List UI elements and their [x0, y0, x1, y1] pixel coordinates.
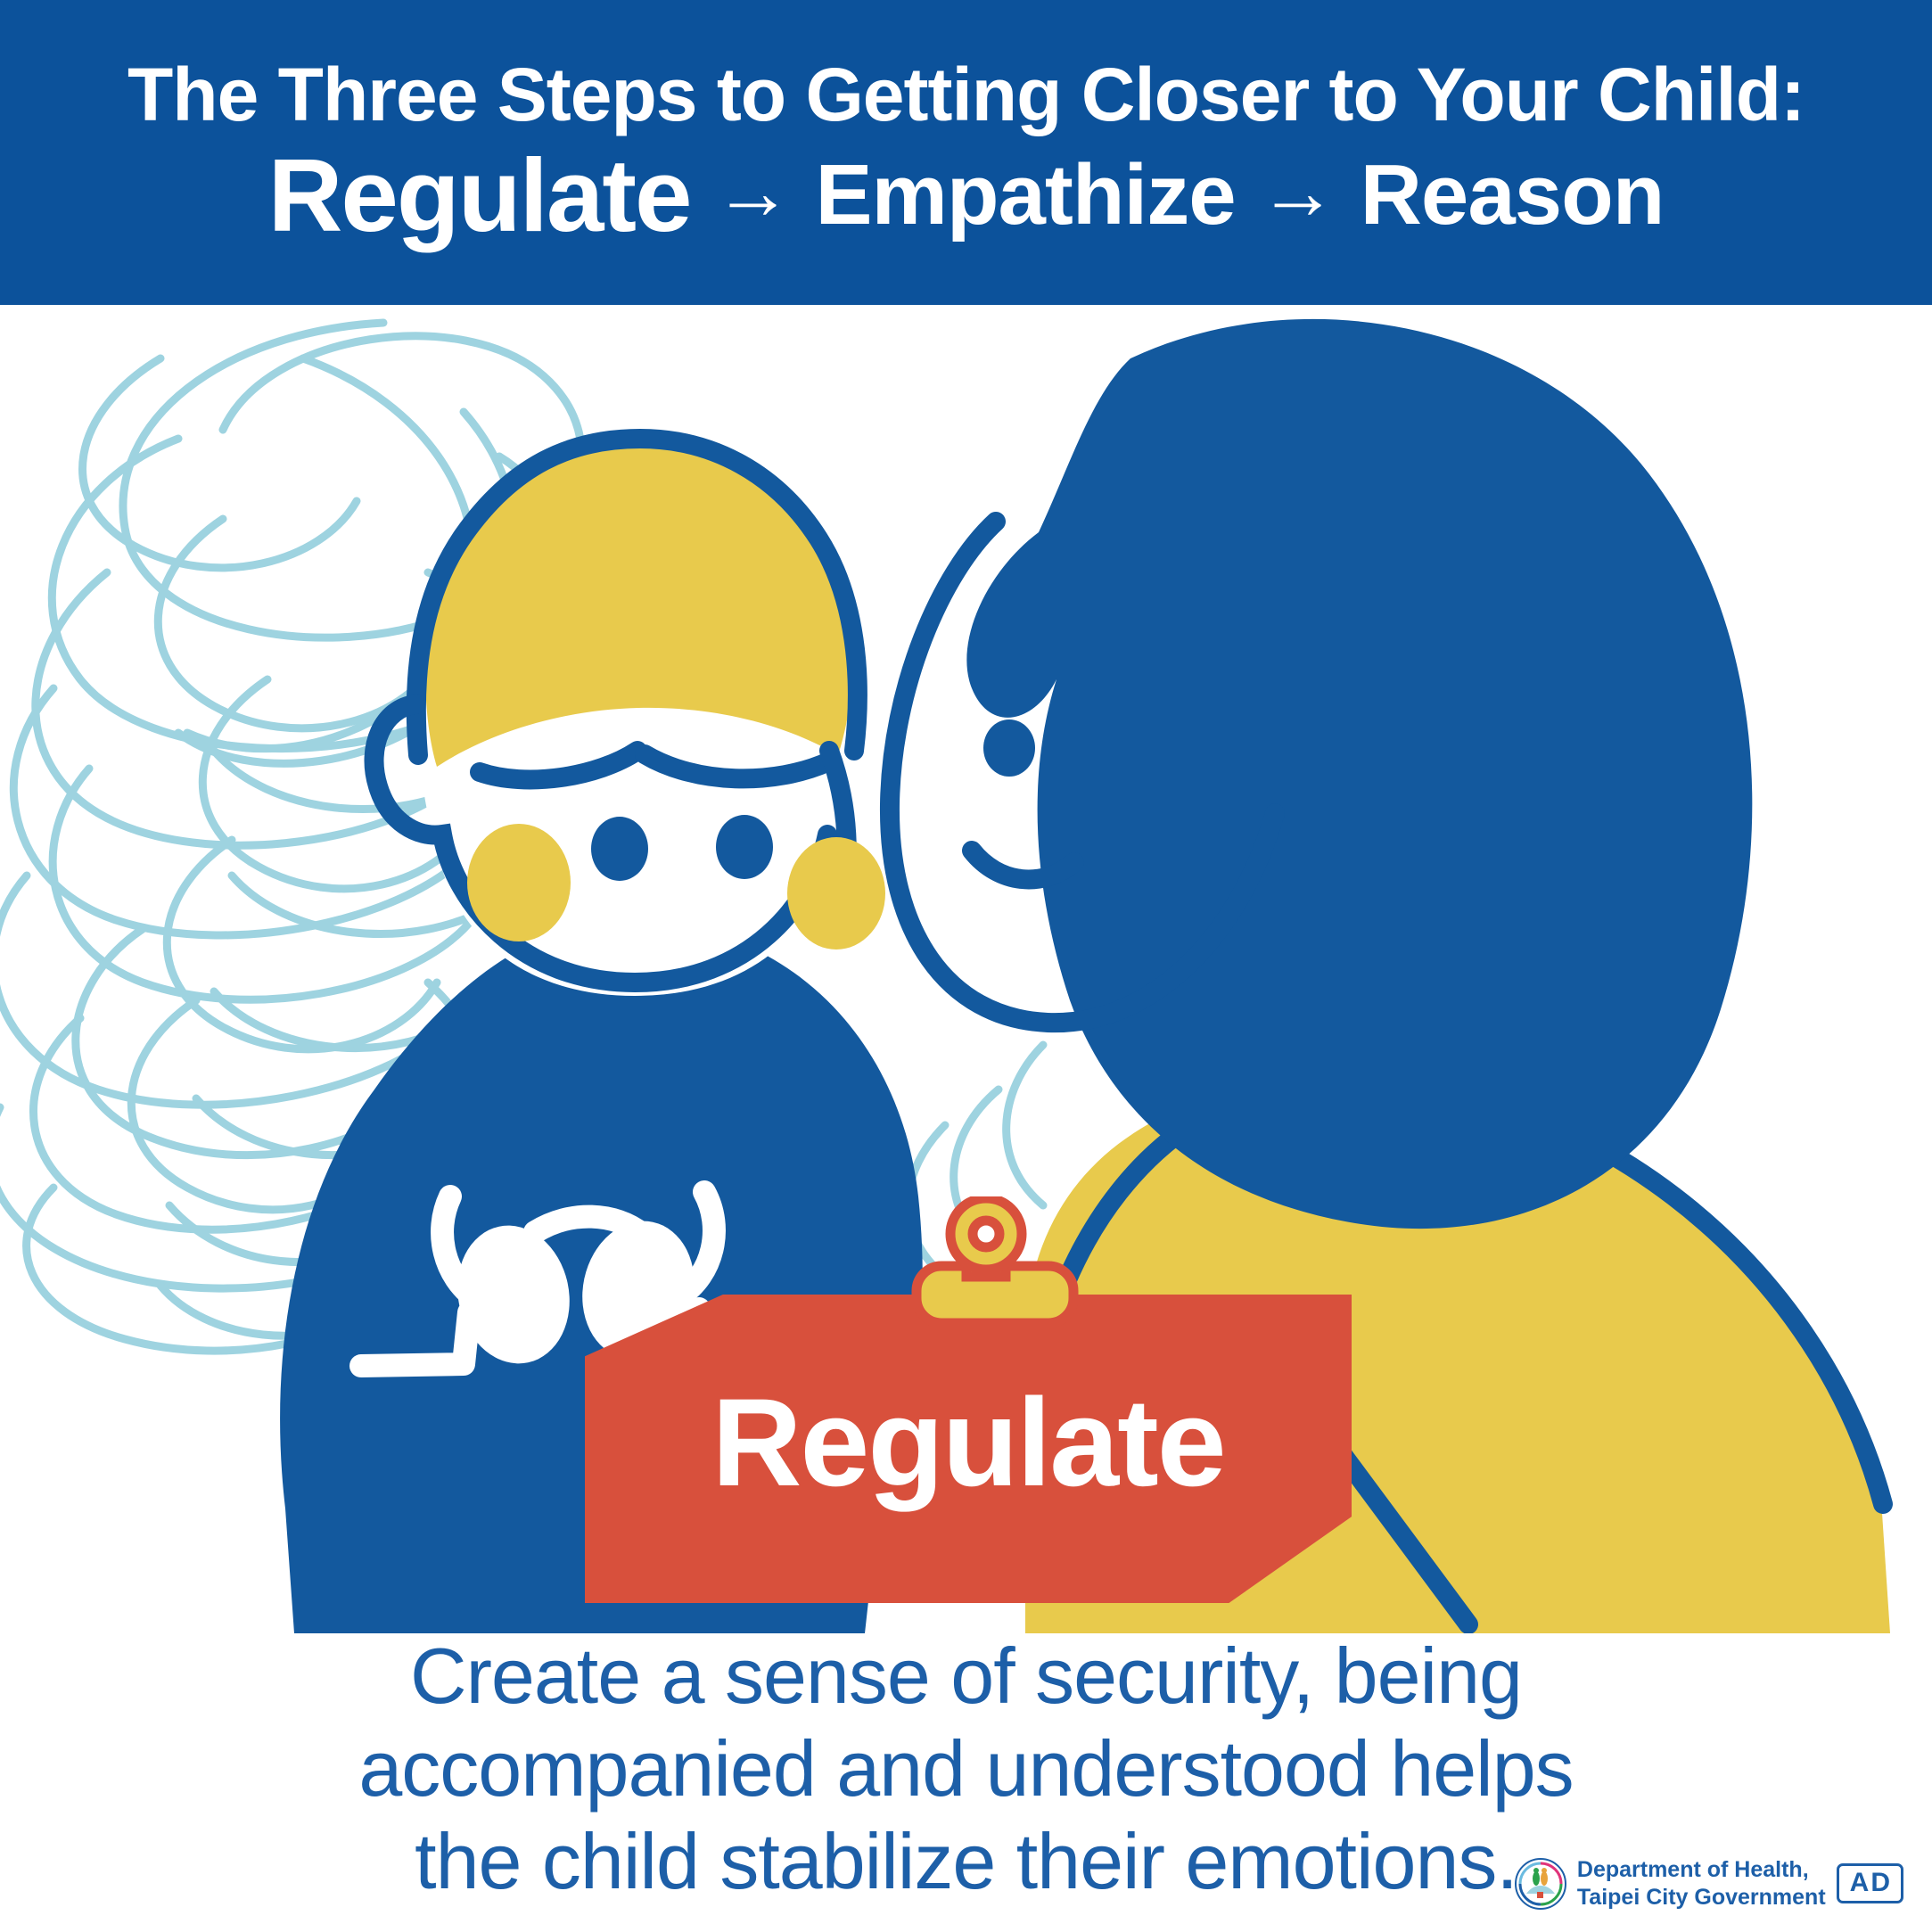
- org-line-2: Taipei City Government: [1577, 1884, 1826, 1911]
- child-right-eye-icon: [716, 815, 773, 879]
- footer-attribution: Department of Health, Taipei City Govern…: [1515, 1856, 1903, 1911]
- government-seal-icon: [1515, 1858, 1566, 1910]
- poster-canvas: The Three Steps to Getting Closer to You…: [0, 0, 1932, 1932]
- government-name: Department of Health, Taipei City Govern…: [1577, 1856, 1826, 1911]
- body-line-2: accompanied and understood helps: [0, 1722, 1932, 1815]
- regulate-banner: Regulate: [585, 1295, 1352, 1603]
- arrow-right-icon: →: [1259, 152, 1337, 231]
- org-line-1: Department of Health,: [1577, 1856, 1826, 1884]
- child-left-eye-icon: [591, 817, 648, 881]
- ad-badge: AD: [1837, 1863, 1903, 1903]
- body-line-1: Create a sense of security, being: [0, 1630, 1932, 1722]
- banner-label: Regulate: [585, 1295, 1352, 1603]
- steps-sequence: Regulate → Empathize → Reason: [268, 143, 1665, 248]
- child-right-cheek-icon: [787, 837, 885, 950]
- step-3-label: Reason: [1361, 152, 1665, 239]
- step-1-label: Regulate: [268, 143, 691, 248]
- page-title: The Three Steps to Getting Closer to You…: [127, 57, 1805, 134]
- child-left-cheek-icon: [467, 824, 571, 941]
- stamp-icon: [911, 1196, 1089, 1339]
- step-2-label: Empathize: [816, 152, 1236, 239]
- arrow-right-icon: →: [714, 152, 793, 231]
- header-banner: The Three Steps to Getting Closer to You…: [0, 0, 1932, 305]
- parent-eye-icon: [983, 719, 1035, 777]
